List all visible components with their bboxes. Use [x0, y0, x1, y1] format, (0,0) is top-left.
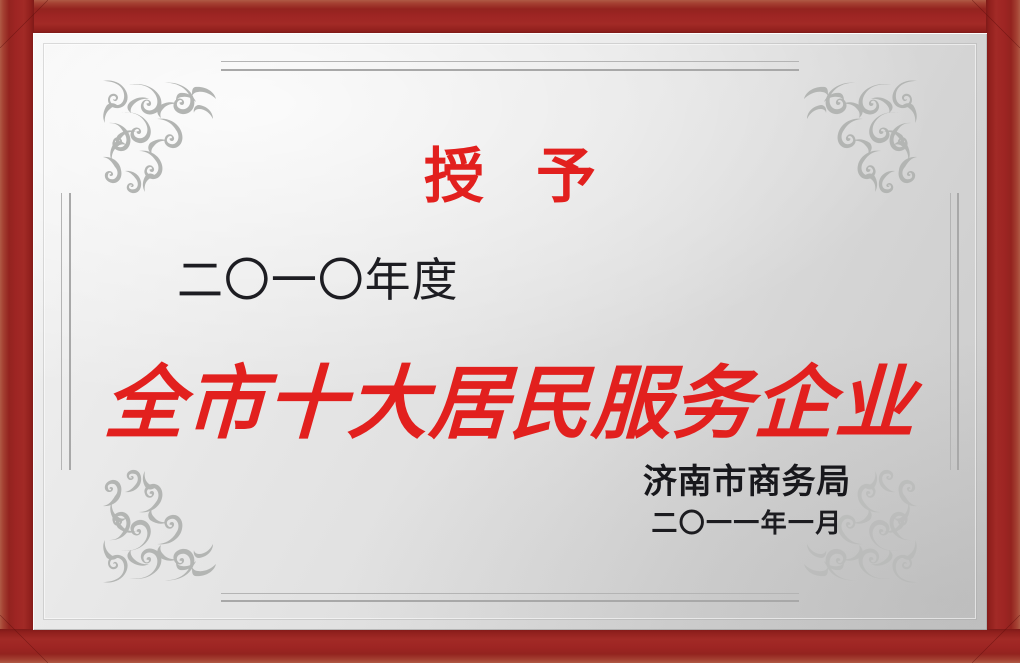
- issuer-block: 济南市商务局 二〇一一年一月: [643, 462, 851, 540]
- rule-top-thick: [221, 69, 799, 71]
- award-title-text: 全市十大居民服务企业: [94, 363, 927, 443]
- rule-right-thick: [957, 193, 959, 470]
- plaque-surface: 授 予 二〇一〇年度 全市十大居民服务企业 济南市商务局 二〇一一年一月: [33, 33, 987, 630]
- rule-left-thick: [69, 193, 71, 470]
- rule-top-thin: [221, 61, 799, 62]
- rule-bottom-thin: [221, 593, 799, 594]
- rule-right-thin: [950, 193, 951, 470]
- plaque-content: 授 予 二〇一〇年度 全市十大居民服务企业 济南市商务局 二〇一一年一月: [95, 75, 925, 588]
- rule-bottom-thick: [221, 600, 799, 602]
- issuer-name-text: 济南市商务局: [643, 462, 851, 502]
- frame-left: [0, 0, 34, 663]
- award-plaque: 授 予 二〇一〇年度 全市十大居民服务企业 济南市商务局 二〇一一年一月: [0, 0, 1020, 663]
- frame-right: [986, 0, 1020, 663]
- frame-bottom: [0, 629, 1020, 663]
- rule-left-thin: [61, 193, 62, 470]
- award-year-text: 二〇一〇年度: [177, 257, 459, 303]
- award-verb-text: 授 予: [95, 147, 925, 207]
- issuer-date-text: 二〇一一年一月: [643, 509, 851, 540]
